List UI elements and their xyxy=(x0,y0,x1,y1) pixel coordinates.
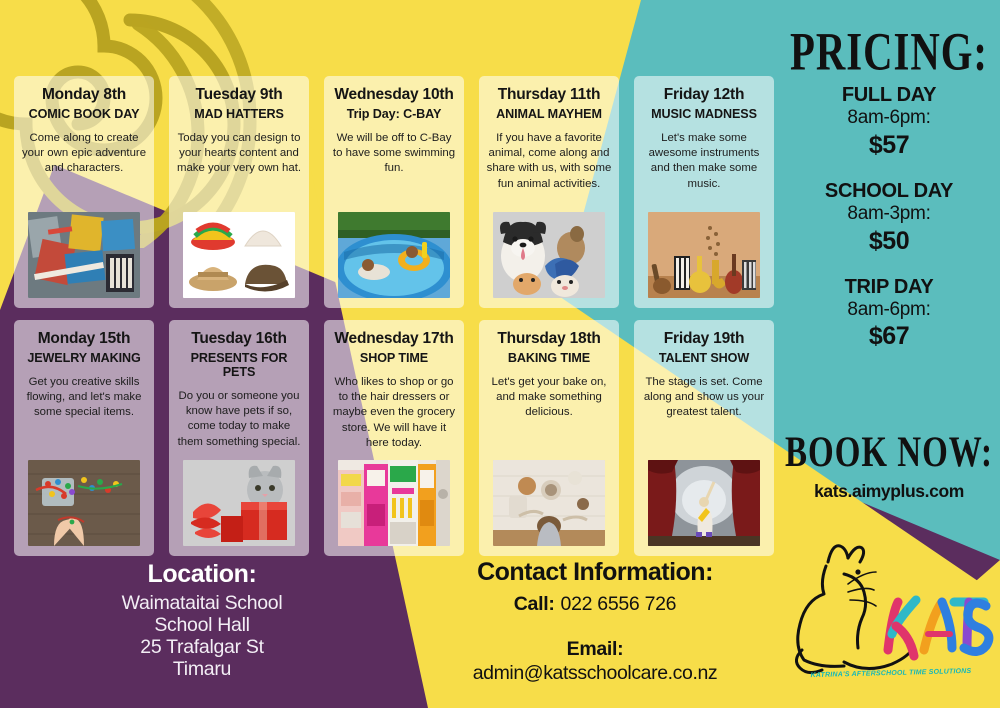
pricing-heading: PRICING: xyxy=(785,26,993,80)
card-date: Friday 12th xyxy=(664,86,745,103)
card-title: ANIMAL MAYHEM xyxy=(496,108,602,122)
price-name: TRIP DAY xyxy=(782,276,996,299)
activity-card[interactable]: Thursday 11th ANIMAL MAYHEM If you have … xyxy=(479,76,619,308)
card-description: Get you creative skills flowing, and let… xyxy=(21,375,147,421)
activity-card[interactable]: Wednesday 10th Trip Day: C-BAY We will b… xyxy=(324,76,464,308)
booking-url-link[interactable]: kats.aimyplus.com xyxy=(782,481,996,502)
price-item-trip-day: TRIP DAY 8am-6pm: $67 xyxy=(782,276,996,352)
card-date: Monday 8th xyxy=(42,86,126,103)
talent-stage-photo xyxy=(648,460,760,546)
jewelry-making-photo xyxy=(28,460,140,546)
activity-card[interactable]: Friday 19th TALENT SHOW The stage is set… xyxy=(634,320,774,556)
card-description: Come along to create your own epic adven… xyxy=(21,131,147,177)
location-line: School Hall xyxy=(18,614,386,636)
location-line: 25 Trafalgar St xyxy=(18,636,386,658)
card-title: COMIC BOOK DAY xyxy=(29,108,140,122)
contact-call-row: Call:022 6556 726 xyxy=(420,593,770,616)
card-date: Tuesday 9th xyxy=(195,86,282,103)
location-heading: Location: xyxy=(18,560,386,589)
contact-block: Contact Information: Call:022 6556 726 E… xyxy=(420,558,770,685)
card-date: Wednesday 10th xyxy=(334,86,453,103)
email-address[interactable]: admin@katsschoolcare.co.nz xyxy=(420,662,770,685)
baking-photo xyxy=(493,460,605,546)
phone-number[interactable]: 022 6556 726 xyxy=(555,593,677,615)
price-amount: $50 xyxy=(782,226,996,256)
activity-card[interactable]: Monday 15th JEWELRY MAKING Get you creat… xyxy=(14,320,154,556)
card-title: JEWELRY MAKING xyxy=(27,352,140,366)
activity-card[interactable]: Thursday 18th BAKING TIME Let's get your… xyxy=(479,320,619,556)
price-hours: 8am-6pm: xyxy=(782,299,996,322)
price-name: SCHOOL DAY xyxy=(782,180,996,203)
card-title: TALENT SHOW xyxy=(659,352,749,366)
card-date: Thursday 11th xyxy=(498,86,601,103)
location-line: Timaru xyxy=(18,658,386,680)
swimming-pool-photo xyxy=(338,212,450,298)
card-description: Who likes to shop or go to the hair dres… xyxy=(331,375,457,451)
card-description: Let's get your bake on, and make somethi… xyxy=(486,375,612,421)
location-block: Location: Waimataitai School School Hall… xyxy=(18,560,386,680)
card-description: Let's make some awesome instruments and … xyxy=(641,131,767,192)
card-description: Today you can design to your hearts cont… xyxy=(176,131,302,177)
activity-card[interactable]: Tuesday 9th MAD HATTERS Today you can de… xyxy=(169,76,309,308)
price-name: FULL DAY xyxy=(782,84,996,107)
card-date: Wednesday 17th xyxy=(334,330,453,347)
pricing-panel: PRICING: FULL DAY 8am-6pm: $57 SCHOOL DA… xyxy=(782,26,996,371)
card-title: MAD HATTERS xyxy=(194,108,284,122)
price-item-school-day: SCHOOL DAY 8am-3pm: $50 xyxy=(782,180,996,256)
price-amount: $67 xyxy=(782,321,996,351)
card-description: If you have a favorite animal, come alon… xyxy=(486,131,612,192)
card-date: Tuesday 16th xyxy=(191,330,287,347)
card-title: Trip Day: C-BAY xyxy=(347,108,442,122)
card-description: Do you or someone you know have pets if … xyxy=(176,389,302,450)
price-amount: $57 xyxy=(782,130,996,160)
call-label: Call: xyxy=(514,593,555,615)
card-title: MUSIC MADNESS xyxy=(651,108,757,122)
card-title: SHOP TIME xyxy=(360,352,428,366)
kats-logo: KATRINA'S AFTERSCHOOL TIME SOLUTIONS xyxy=(788,538,994,706)
poster: Monday 8th COMIC BOOK DAY Come along to … xyxy=(0,0,1000,708)
activity-card[interactable]: Wednesday 17th SHOP TIME Who likes to sh… xyxy=(324,320,464,556)
pets-photo xyxy=(493,212,605,298)
price-hours: 8am-3pm: xyxy=(782,203,996,226)
book-now-panel: BOOK NOW: kats.aimyplus.com xyxy=(782,432,996,502)
activity-card-grid: Monday 8th COMIC BOOK DAY Come along to … xyxy=(14,76,774,556)
book-now-heading: BOOK NOW: xyxy=(782,432,996,475)
location-line: Waimataitai School xyxy=(18,592,386,614)
card-date: Friday 19th xyxy=(664,330,745,347)
kats-wordmark xyxy=(888,600,989,656)
price-hours: 8am-6pm: xyxy=(782,107,996,130)
instruments-photo xyxy=(648,212,760,298)
price-item-full-day: FULL DAY 8am-6pm: $57 xyxy=(782,84,996,160)
email-label: Email: xyxy=(420,638,770,661)
activity-card[interactable]: Friday 12th MUSIC MADNESS Let's make som… xyxy=(634,76,774,308)
card-description: We will be off to C-Bay to have some swi… xyxy=(331,131,457,177)
card-description: The stage is set. Come along and show us… xyxy=(641,375,767,421)
hats-photo xyxy=(183,212,295,298)
activity-card[interactable]: Monday 8th COMIC BOOK DAY Come along to … xyxy=(14,76,154,308)
toy-shop-photo xyxy=(338,460,450,546)
card-date: Thursday 18th xyxy=(497,330,600,347)
contact-heading: Contact Information: xyxy=(420,558,770,587)
card-title: PRESENTS FOR PETS xyxy=(176,352,302,380)
activity-card[interactable]: Tuesday 16th PRESENTS FOR PETS Do you or… xyxy=(169,320,309,556)
card-date: Monday 15th xyxy=(38,330,131,347)
comic-books-photo xyxy=(28,212,140,298)
kitten-gift-photo xyxy=(183,460,295,546)
card-title: BAKING TIME xyxy=(508,352,590,366)
